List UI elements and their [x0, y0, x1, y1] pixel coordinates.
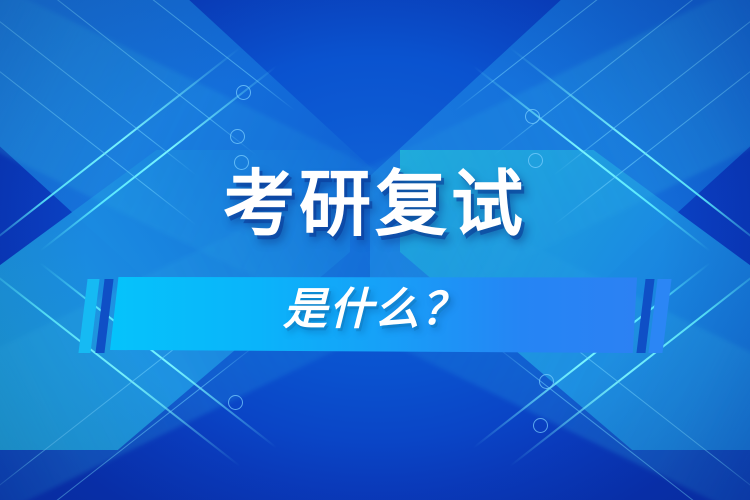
subtitle-banner-group: 是什么？: [0, 277, 750, 355]
page-subtitle: 是什么？: [0, 288, 750, 332]
poster-canvas: 考研复试 是什么？: [0, 0, 750, 500]
title-container: 考研复试: [0, 168, 750, 240]
page-title: 考研复试: [223, 168, 527, 240]
vignette-overlay: [0, 0, 750, 500]
